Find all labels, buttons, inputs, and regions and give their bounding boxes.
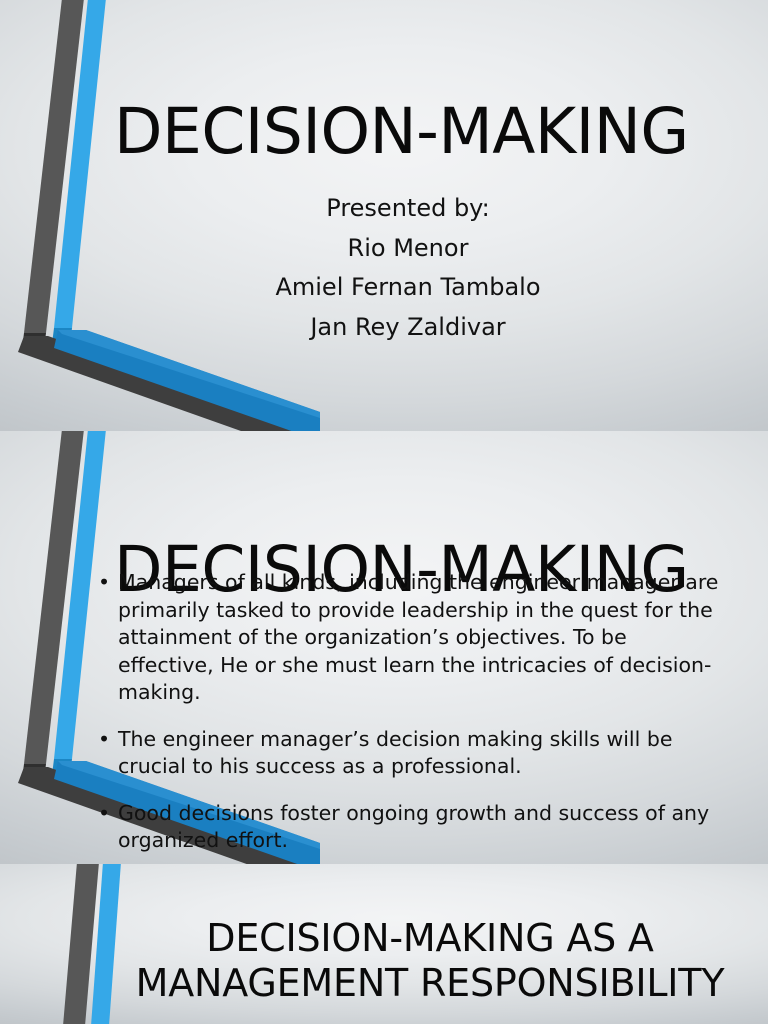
chevron-gray-upper-icon <box>63 864 99 1024</box>
chevron-gray-upper-icon <box>24 0 84 333</box>
slide-3-title-line-1: DECISION-MAKING AS A <box>100 916 760 961</box>
chevron-gray-upper-bevel-icon <box>22 333 46 349</box>
chevron-gray-upper-icon <box>24 431 84 764</box>
chevron-blue-upper-bevel-icon <box>52 759 72 775</box>
presenter-name-1: Rio Menor <box>158 229 658 269</box>
presenter-name-2: Amiel Fernan Tambalo <box>158 268 658 308</box>
slide-1-title-text: DECISION-MAKING <box>114 100 689 163</box>
slide-2-content: DECISION-MAKING • Managers of all kinds,… <box>0 431 768 864</box>
presenter-name-3: Jan Rey Zaldivar <box>158 308 658 348</box>
slide-2-bullet-list: • Managers of all kinds, including the e… <box>96 569 722 855</box>
bullet-item: • Managers of all kinds, including the e… <box>96 569 722 707</box>
chevron-gray-upper-bevel-icon <box>22 764 46 780</box>
bullet-item: • The engineer manager’s decision making… <box>96 726 722 781</box>
bullet-text: Managers of all kinds, including the eng… <box>118 570 718 704</box>
chevron-blue-upper-bevel-icon <box>52 328 72 344</box>
slide-1-presenters-block: Presented by: Rio Menor Amiel Fernan Tam… <box>158 189 658 347</box>
bullet-marker-icon: • <box>98 726 110 754</box>
chevron-blue-upper-icon <box>54 0 106 328</box>
bullet-text: Good decisions foster ongoing growth and… <box>118 801 709 853</box>
slide-1-title: DECISION-MAKING Presented by: Rio Menor … <box>0 0 768 431</box>
slide-3-title-block: DECISION-MAKING AS A MANAGEMENT RESPONSI… <box>100 916 760 1006</box>
slide-3-title-line-2: MANAGEMENT RESPONSIBILITY <box>100 961 760 1006</box>
slide-3-section-header: DECISION-MAKING AS A MANAGEMENT RESPONSI… <box>0 864 768 1024</box>
bullet-marker-icon: • <box>98 800 110 828</box>
chevron-gray-lower-icon <box>18 336 320 431</box>
bullet-item: • Good decisions foster ongoing growth a… <box>96 800 722 855</box>
presented-by-label: Presented by: <box>158 189 658 229</box>
slide-deck: DECISION-MAKING Presented by: Rio Menor … <box>0 0 768 1024</box>
bullet-marker-icon: • <box>98 569 110 597</box>
bullet-text: The engineer manager’s decision making s… <box>118 727 672 779</box>
